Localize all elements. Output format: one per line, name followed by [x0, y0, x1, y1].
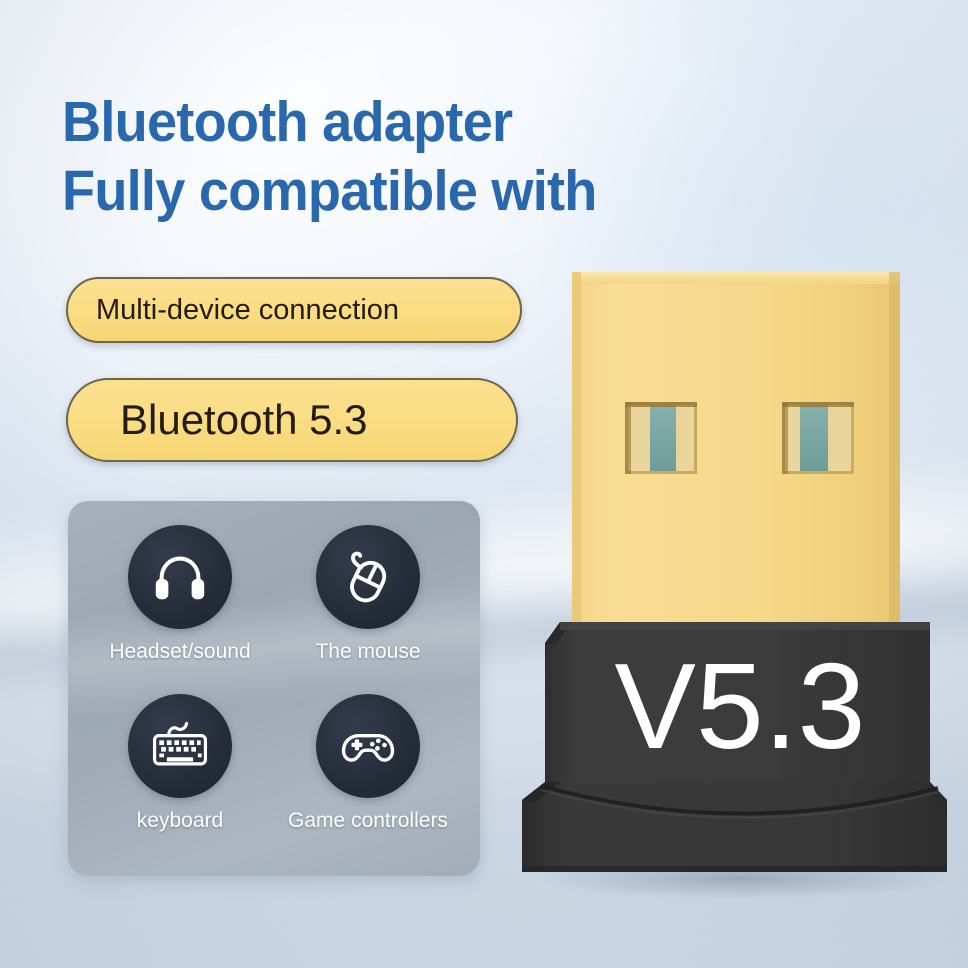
- feature-headset: Headset/sound: [86, 525, 274, 694]
- headline: Bluetooth adapter Fully compatible with: [62, 88, 762, 226]
- feature-keyboard: keyboard: [86, 694, 274, 863]
- feature-mouse: The mouse: [274, 525, 462, 694]
- feature-label: The mouse: [315, 640, 420, 664]
- headline-line-1: Bluetooth adapter: [62, 88, 727, 157]
- headphones-icon: [128, 525, 232, 629]
- product-banner: Bluetooth adapter Fully compatible with …: [0, 0, 968, 968]
- compatibility-panel: Headset/sound The mouse: [68, 501, 480, 876]
- feature-label: Game controllers: [288, 809, 448, 833]
- mouse-icon: [316, 525, 420, 629]
- badge-bluetooth-version: Bluetooth 5.3: [66, 378, 518, 462]
- feature-label: Headset/sound: [109, 640, 250, 664]
- badge-label: Bluetooth 5.3: [120, 396, 368, 444]
- headline-line-2: Fully compatible with: [62, 157, 727, 226]
- gamepad-icon: [316, 694, 420, 798]
- feature-game-controllers: Game controllers: [274, 694, 462, 863]
- badge-label: Multi-device connection: [96, 294, 399, 327]
- keyboard-icon: [128, 694, 232, 798]
- feature-grid: Headset/sound The mouse: [68, 501, 480, 876]
- badge-multi-device-connection: Multi-device connection: [66, 277, 522, 343]
- feature-label: keyboard: [137, 809, 223, 833]
